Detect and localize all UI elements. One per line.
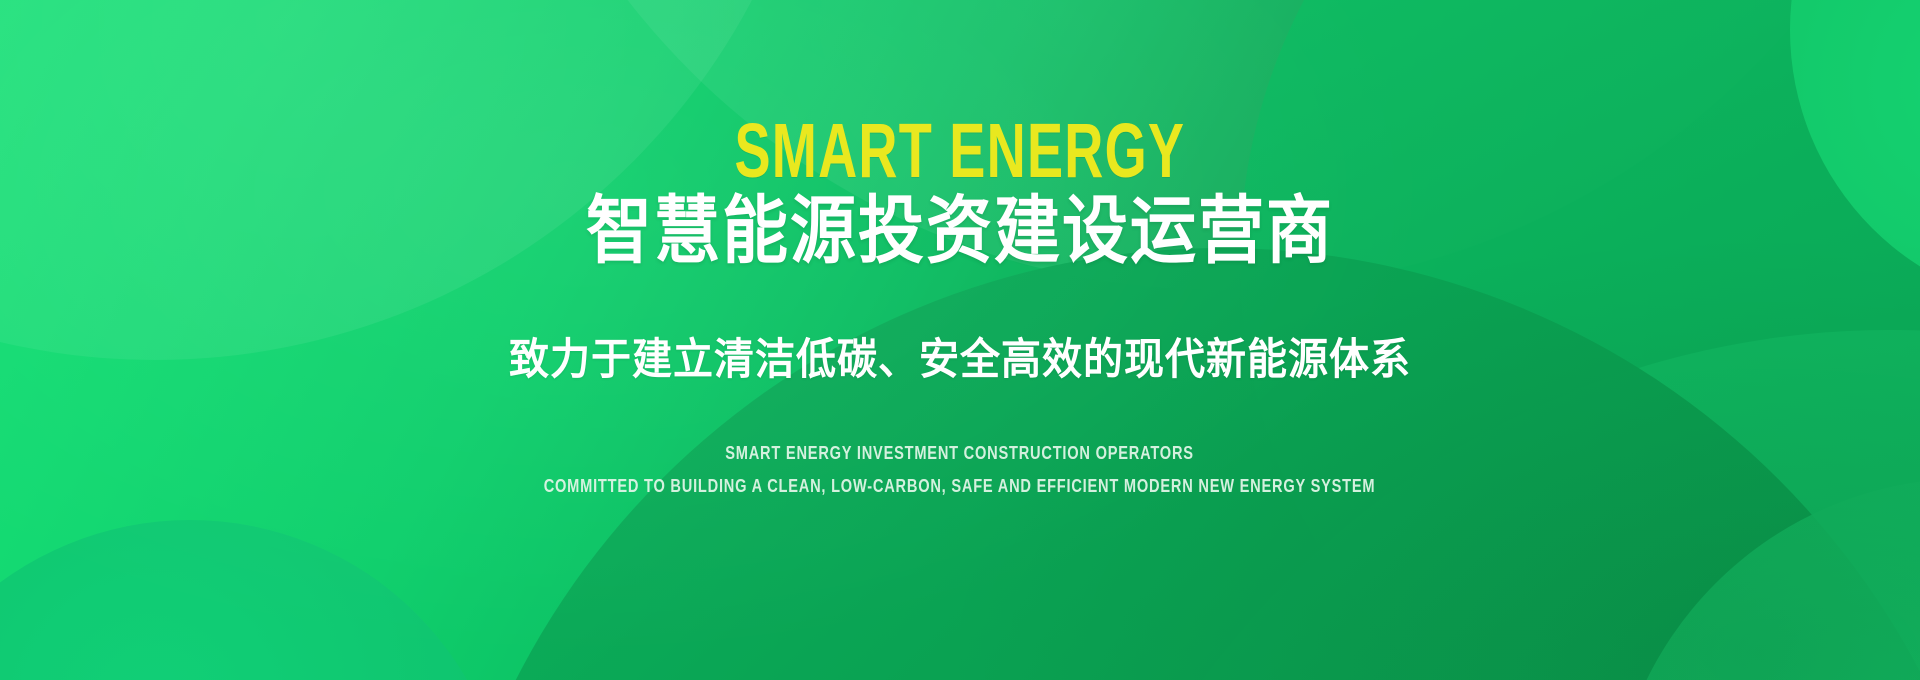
banner-subline-group: SMART ENERGY INVESTMENT CONSTRUCTION OPE… <box>544 439 1376 500</box>
banner-tagline-chinese: 致力于建立清洁低碳、安全高效的现代新能源体系 <box>509 336 1411 384</box>
banner-headline-english: SMART ENERGY <box>735 112 1186 189</box>
banner-headline-chinese: 智慧能源投资建设运营商 <box>586 192 1334 270</box>
banner-subline-english-2: COMMITTED TO BUILDING A CLEAN, LOW-CARBO… <box>544 471 1376 499</box>
banner-subline-english-1: SMART ENERGY INVESTMENT CONSTRUCTION OPE… <box>544 439 1376 467</box>
banner-content: SMART ENERGY 智慧能源投资建设运营商 致力于建立清洁低碳、安全高效的… <box>0 0 1920 680</box>
hero-banner: SMART ENERGY 智慧能源投资建设运营商 致力于建立清洁低碳、安全高效的… <box>0 0 1920 680</box>
